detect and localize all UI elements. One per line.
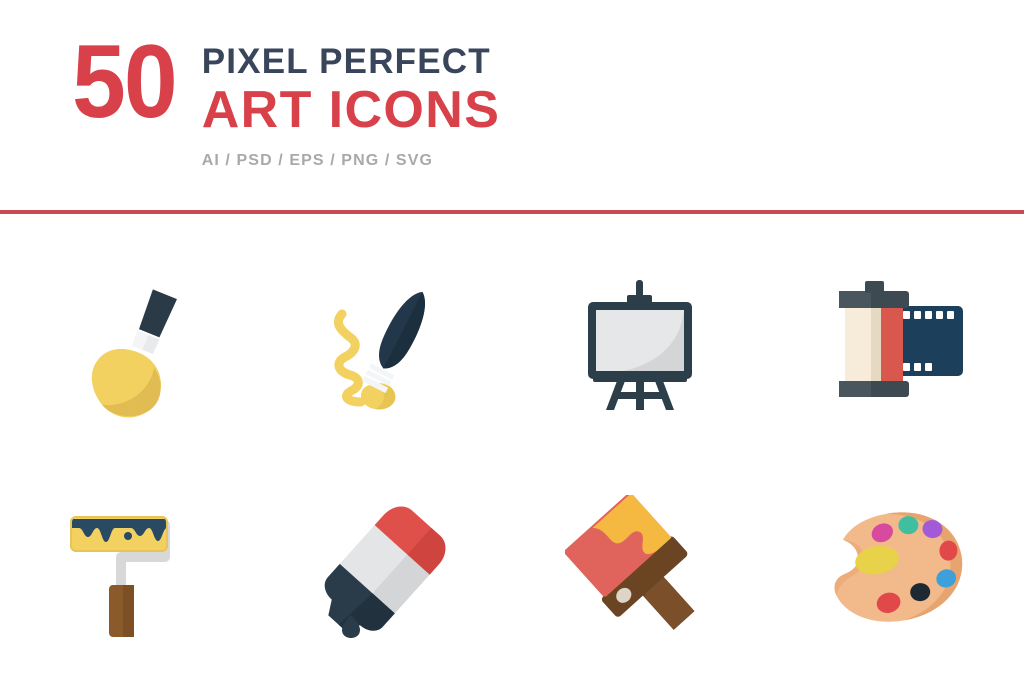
- icon-cell-film-roll[interactable]: [768, 230, 1024, 457]
- icon-grid: [0, 230, 1024, 683]
- paint-roller-icon: [53, 495, 203, 645]
- page-title-secondary: ART ICONS: [202, 82, 501, 138]
- art-brush-stroke-icon: [309, 268, 459, 418]
- eyedropper-pipette-icon: [309, 495, 459, 645]
- icon-count: 50: [72, 34, 176, 131]
- icon-cell-artist-palette[interactable]: [768, 457, 1024, 683]
- header-divider: [0, 210, 1024, 214]
- film-roll-icon: [821, 268, 971, 418]
- artist-palette-icon: [821, 495, 971, 645]
- file-formats-label: AI / PSD / EPS / PNG / SVG: [202, 152, 501, 170]
- page-title-primary: PIXEL PERFECT: [202, 44, 501, 80]
- title-block: PIXEL PERFECT ART ICONS AI / PSD / EPS /…: [202, 30, 501, 170]
- easel-canvas-icon: [565, 268, 715, 418]
- header-content: 50 PIXEL PERFECT ART ICONS AI / PSD / EP…: [72, 30, 500, 170]
- icon-cell-paint-brush-round[interactable]: [0, 230, 256, 457]
- icon-cell-flat-paint-brush[interactable]: [512, 457, 768, 683]
- icon-cell-eyedropper-pipette[interactable]: [256, 457, 512, 683]
- icon-cell-paint-roller[interactable]: [0, 457, 256, 683]
- paint-brush-round-icon: [53, 268, 203, 418]
- flat-paint-brush-icon: [565, 495, 715, 645]
- header: 50 PIXEL PERFECT ART ICONS AI / PSD / EP…: [0, 0, 1024, 212]
- icon-cell-easel-canvas[interactable]: [512, 230, 768, 457]
- icon-cell-art-brush-stroke[interactable]: [256, 230, 512, 457]
